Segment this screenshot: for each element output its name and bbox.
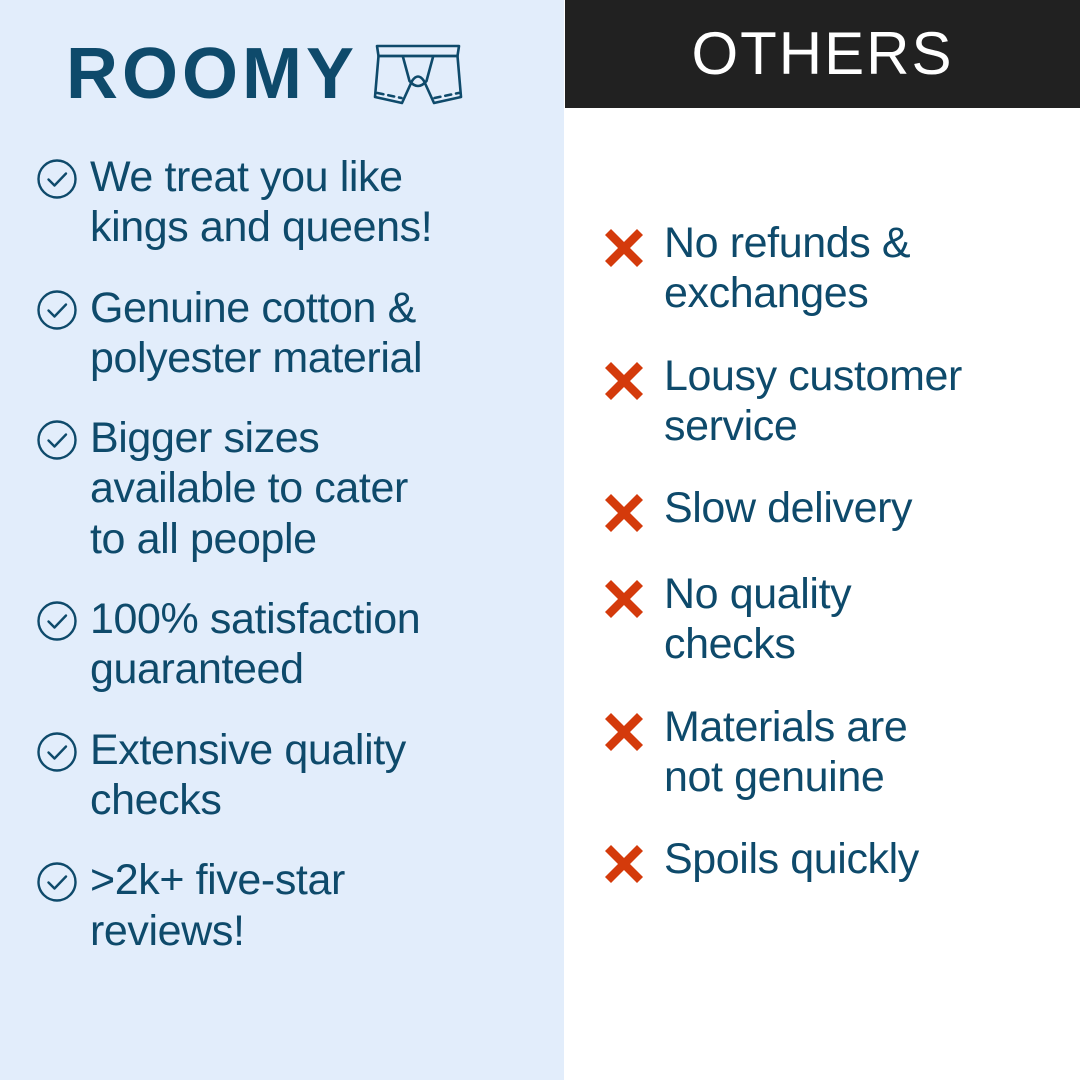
list-item: Bigger sizes available to cater to all p…: [36, 413, 548, 564]
brand-lockup: ROOMY: [66, 38, 464, 110]
x-mark-icon: [600, 489, 648, 537]
x-mark-icon: [600, 708, 648, 756]
cons-list: No refunds & exchanges Lousy customer se…: [564, 218, 1080, 888]
list-item-label: Genuine cotton & polyester material: [90, 283, 422, 384]
list-item-label: We treat you like kings and queens!: [90, 152, 432, 253]
list-item: We treat you like kings and queens!: [36, 152, 548, 253]
pros-list: We treat you like kings and queens! Genu…: [0, 152, 564, 956]
list-item-label: Bigger sizes available to cater to all p…: [90, 413, 408, 564]
roomy-panel: ROOMY We treat you like king: [0, 0, 564, 1080]
list-item: Extensive quality checks: [36, 725, 548, 826]
list-item: Spoils quickly: [600, 834, 1070, 888]
others-panel: OTHERS No refunds & exchanges Lousy cust…: [564, 0, 1080, 1080]
list-item: Materials are not genuine: [600, 702, 1070, 803]
check-circle-icon: [36, 419, 78, 461]
brand-name: ROOMY: [66, 38, 358, 110]
list-item-label: 100% satisfaction guaranteed: [90, 594, 420, 695]
list-item: 100% satisfaction guaranteed: [36, 594, 548, 695]
check-circle-icon: [36, 731, 78, 773]
list-item: >2k+ five-star reviews!: [36, 855, 548, 956]
x-mark-icon: [600, 224, 648, 272]
list-item-label: Lousy customer service: [664, 351, 962, 452]
check-circle-icon: [36, 600, 78, 642]
list-item: No quality checks: [600, 569, 1070, 670]
check-circle-icon: [36, 861, 78, 903]
list-item-label: Materials are not genuine: [664, 702, 907, 803]
x-mark-icon: [600, 575, 648, 623]
x-mark-icon: [600, 357, 648, 405]
list-item-label: Extensive quality checks: [90, 725, 406, 826]
list-item-label: Spoils quickly: [664, 834, 919, 884]
x-mark-icon: [600, 840, 648, 888]
list-item: No refunds & exchanges: [600, 218, 1070, 319]
check-circle-icon: [36, 289, 78, 331]
comparison-infographic: ROOMY We treat you like king: [0, 0, 1080, 1080]
others-title: OTHERS: [691, 24, 953, 84]
list-item-label: No quality checks: [664, 569, 851, 670]
list-item: Genuine cotton & polyester material: [36, 283, 548, 384]
list-item: Lousy customer service: [600, 351, 1070, 452]
check-circle-icon: [36, 158, 78, 200]
list-item-label: No refunds & exchanges: [664, 218, 910, 319]
list-item-label: Slow delivery: [664, 483, 912, 533]
list-item-label: >2k+ five-star reviews!: [90, 855, 345, 956]
others-banner: OTHERS: [565, 0, 1080, 108]
list-item: Slow delivery: [600, 483, 1070, 537]
boxer-briefs-icon: [372, 41, 464, 107]
